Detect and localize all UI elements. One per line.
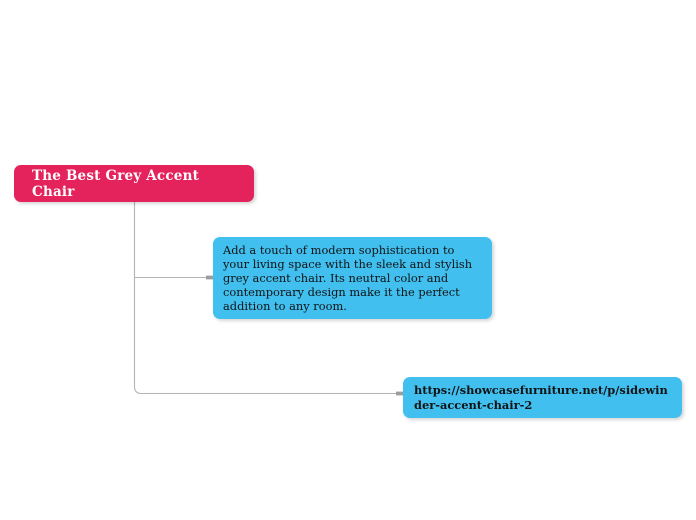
- mindmap-root-node[interactable]: The Best Grey Accent Chair: [14, 165, 254, 202]
- mindmap-node-description[interactable]: Add a touch of modern sophistication to …: [213, 237, 492, 319]
- mindmap-canvas: The Best Grey Accent Chair Add a touch o…: [0, 0, 696, 520]
- mindmap-node-url[interactable]: https://showcasefurniture.net/p/sidewind…: [403, 377, 682, 418]
- connector-trunk: [135, 202, 142, 394]
- mindmap-node-description-label: Add a touch of modern sophistication to …: [223, 243, 483, 313]
- connector-nub-description: [206, 276, 213, 280]
- mindmap-node-url-label: https://showcasefurniture.net/p/sidewind…: [414, 383, 673, 412]
- connector-nub-link: [396, 392, 403, 396]
- mindmap-root-label: The Best Grey Accent Chair: [32, 168, 236, 200]
